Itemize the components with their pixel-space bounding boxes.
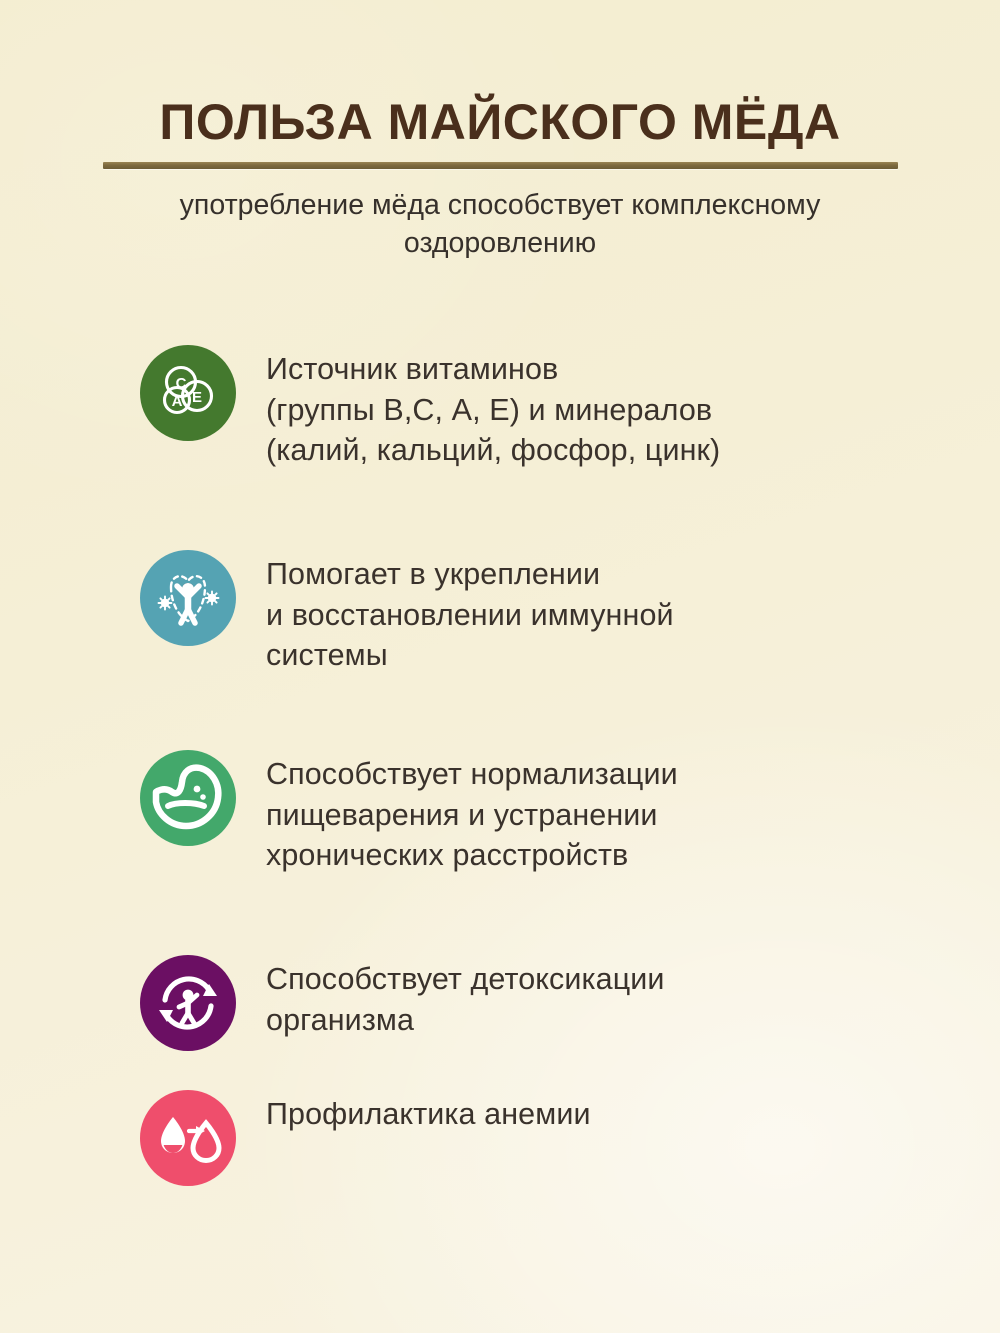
- vitamins-cae-icon: C A E: [140, 345, 236, 441]
- svg-text:A: A: [172, 393, 183, 410]
- benefit-item-digestion: Способствует нормализации пищеварения и …: [140, 750, 940, 876]
- page-title: ПОЛЬЗА МАЙСКОГО МЁДА: [0, 96, 1000, 148]
- title-divider: [103, 162, 898, 169]
- benefit-item-immunity: Помогает в укреплении и восстановлении и…: [140, 550, 940, 676]
- benefit-item-detox: Способствует детоксикации организма: [140, 955, 940, 1051]
- svg-text:E: E: [192, 389, 202, 406]
- benefit-text: Способствует нормализации пищеварения и …: [266, 750, 678, 876]
- benefit-text: Помогает в укреплении и восстановлении и…: [266, 550, 674, 676]
- benefit-text: Способствует детоксикации организма: [266, 955, 665, 1040]
- page-subtitle: употребление мёда способствует комплексн…: [105, 187, 895, 262]
- benefit-text: Источник витаминов (группы В,С, А, Е) и …: [266, 345, 720, 471]
- detox-renewal-person-icon: [140, 955, 236, 1051]
- svg-text:C: C: [176, 375, 187, 392]
- poster-header: ПОЛЬЗА МАЙСКОГО МЁДА употребление мёда с…: [0, 96, 1000, 262]
- benefit-text: Профилактика анемии: [266, 1090, 591, 1135]
- stomach-digestion-icon: [140, 750, 236, 846]
- benefit-item-vitamins: C A E Источник витаминов (группы В,С, А,…: [140, 345, 940, 471]
- benefit-item-anemia: Профилактика анемии: [140, 1090, 940, 1186]
- immunity-shield-person-icon: [140, 550, 236, 646]
- poster-root: ПОЛЬЗА МАЙСКОГО МЁДА употребление мёда с…: [0, 0, 1000, 1333]
- blood-drops-anemia-icon: [140, 1090, 236, 1186]
